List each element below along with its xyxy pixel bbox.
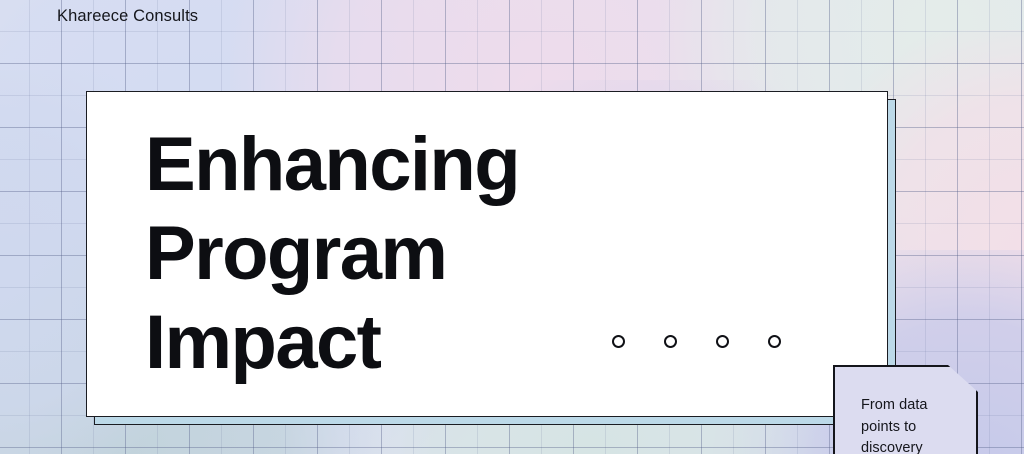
hero-card: Enhancing Program Impact [86, 91, 888, 417]
slide-canvas: Khareece Consults Enhancing Program Impa… [0, 0, 1024, 454]
note-card: From data points to discovery [833, 365, 978, 454]
note-card-text: From data points to discovery [861, 395, 967, 454]
brand-name: Khareece Consults [57, 5, 198, 27]
circle-dot-icon [716, 335, 729, 348]
page-title: Enhancing Program Impact [145, 120, 519, 387]
dot-decoration-row [612, 335, 781, 348]
circle-dot-icon [612, 335, 625, 348]
circle-dot-icon [664, 335, 677, 348]
circle-dot-icon [768, 335, 781, 348]
